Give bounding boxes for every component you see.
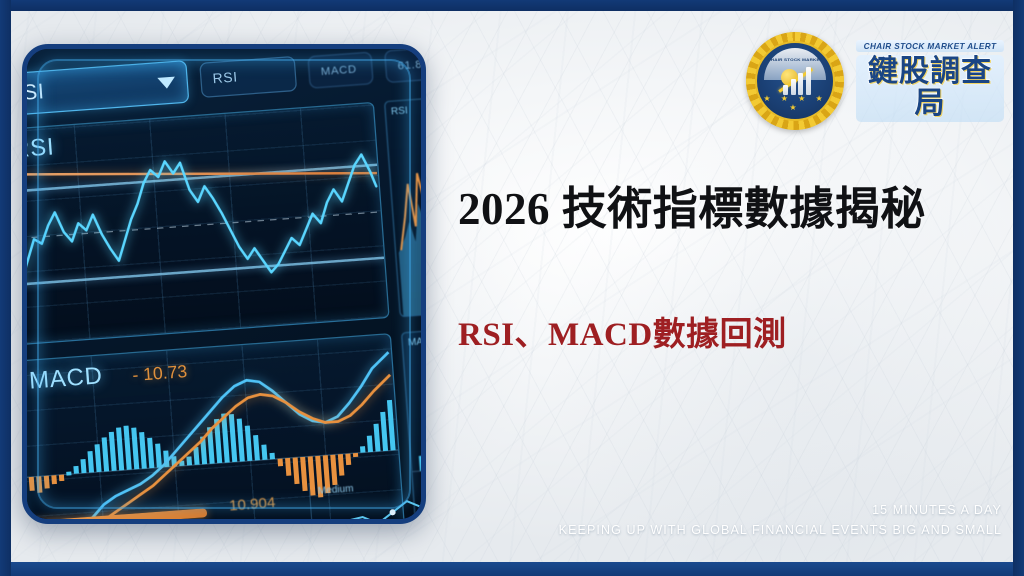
- macd-mini-label: MACD: [408, 335, 426, 348]
- wordmark-chinese: 鍵股調查局: [856, 55, 1004, 122]
- logo-wordmark: CHAIR STOCK MARKET ALERT 鍵股調查局: [856, 40, 1004, 122]
- macd-panel-value: - 10.73: [132, 361, 188, 385]
- footer-value-1: 10.904: [228, 493, 275, 514]
- ticker-cyan-2: 61,190: [171, 44, 221, 45]
- macd-panel-label: MACD: [28, 363, 103, 396]
- indicator-dropdown-main[interactable]: RSI: [22, 60, 189, 117]
- macd-axis-tick-1: 0: [22, 471, 25, 484]
- ticker-col-2: 41,002 61,190: [170, 44, 221, 45]
- rsi-panel: RSI 100 70 50 40 10: [22, 102, 390, 346]
- wordmark-english: CHAIR STOCK MARKET ALERT: [856, 40, 1004, 52]
- indicator-dropdown-level-label: 61.80: [397, 57, 426, 72]
- page-subtitle: RSI、MACD數據回測: [458, 316, 1003, 356]
- frame-border-left: [0, 0, 11, 576]
- badge-stars: ★ ★ ★ ★ ★: [757, 94, 833, 112]
- ticker-col-1: 80,030 19,853: [104, 44, 155, 50]
- indicator-dropdown-macd-label: MACD: [320, 63, 357, 78]
- tagline-line-2: KEEPING UP WITH GLOBAL FINANCIAL EVENTS …: [559, 521, 1002, 540]
- indicator-dropdown-main-label: RSI: [22, 79, 45, 107]
- indicator-dropdown-rsi-label: RSI: [212, 70, 238, 87]
- frame-border-right: [1013, 0, 1024, 576]
- badge-icon: CHAIR STOCK MARKET ★ ★ ★ ★ ★: [746, 32, 844, 130]
- badge-arc-text: CHAIR STOCK MARKET: [764, 57, 826, 62]
- chevron-down-icon: [157, 77, 175, 90]
- rsi-mini-sparkline: [385, 98, 426, 317]
- frame-border-bottom: [0, 562, 1024, 576]
- indicator-dropdown-macd[interactable]: MACD: [307, 51, 374, 88]
- chart-canvas: Vol/Val ▼ 1.26 80,030 19,853 41,002 61,1…: [22, 44, 426, 524]
- tagline: 15 MINUTES A DAY KEEPING UP WITH GLOBAL …: [559, 501, 1002, 540]
- brand-logo[interactable]: CHAIR STOCK MARKET ★ ★ ★ ★ ★ CHAIR STOCK…: [746, 32, 1004, 132]
- tagline-line-1: 15 MINUTES A DAY: [559, 501, 1002, 520]
- badge-bar-chart-icon: [783, 67, 811, 95]
- frame-border-top: [0, 0, 1024, 11]
- footer-bar-orange: [22, 508, 207, 524]
- slide-root: Vol/Val ▼ 1.26 80,030 19,853 41,002 61,1…: [0, 0, 1024, 576]
- chart-screenshot-card: Vol/Val ▼ 1.26 80,030 19,853 41,002 61,1…: [22, 44, 426, 524]
- page-title: 2026 技術指標數據揭秘: [458, 184, 1003, 234]
- badge-core: CHAIR STOCK MARKET ★ ★ ★ ★ ★: [755, 41, 835, 121]
- rsi-panel-label: RSI: [22, 134, 55, 165]
- indicator-dropdown-rsi[interactable]: RSI: [199, 56, 297, 98]
- rsi-line-chart: [22, 103, 390, 346]
- ticker-cyan-value: 19,853: [105, 44, 155, 50]
- ticker-change-value: ▼ 1.26: [32, 44, 88, 48]
- rsi-mini-panel[interactable]: RSI: [384, 97, 426, 317]
- rsi-mini-label: RSI: [391, 104, 409, 117]
- indicator-dropdown-level[interactable]: 61.80: [384, 46, 426, 83]
